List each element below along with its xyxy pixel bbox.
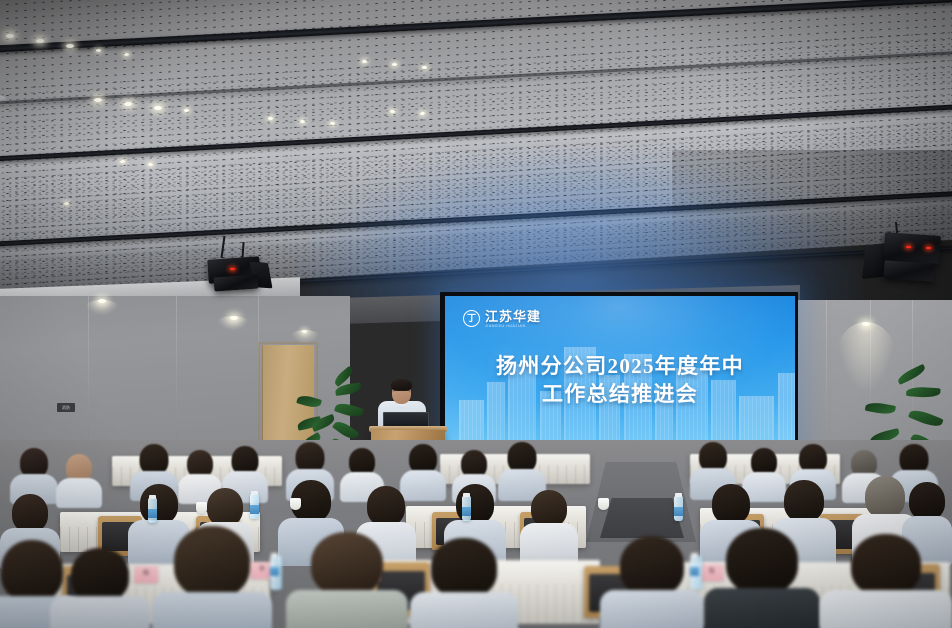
ceiling-downlight bbox=[392, 63, 397, 66]
audience-member-foreground bbox=[704, 528, 820, 628]
audience-member-foreground bbox=[286, 532, 408, 628]
ceiling-downlight bbox=[184, 109, 189, 112]
ceiling-downlight bbox=[154, 106, 162, 110]
ceiling-downlight bbox=[64, 202, 69, 205]
ceiling-downlight bbox=[124, 102, 132, 106]
wall-sign: 消防 bbox=[57, 403, 75, 412]
audience-member-foreground bbox=[152, 526, 272, 628]
audience-member-foreground bbox=[50, 548, 150, 628]
ceiling-downlight bbox=[94, 98, 102, 102]
speaker-power-led bbox=[230, 268, 235, 270]
audience-member-foreground bbox=[820, 534, 952, 628]
paper-cup bbox=[196, 502, 207, 514]
ceiling-downlight bbox=[862, 322, 870, 326]
glasses-icon bbox=[393, 390, 410, 394]
ceiling-downlight bbox=[124, 53, 129, 56]
slide-title-line1: 扬州分公司2025年度年中 bbox=[445, 352, 795, 380]
speaker-power-led bbox=[926, 247, 931, 249]
audience-member bbox=[56, 454, 102, 504]
logo-emblem-icon: 丁 bbox=[463, 310, 480, 327]
wall-sign-label: 消防 bbox=[57, 403, 75, 412]
audience-member-foreground bbox=[410, 538, 518, 628]
ceiling-downlight bbox=[96, 49, 101, 52]
logo-chinese-name: 江苏华建 bbox=[485, 310, 541, 323]
audience-member bbox=[520, 490, 578, 566]
conference-room-photo: 消防 bbox=[0, 0, 952, 628]
water-bottle bbox=[674, 496, 683, 521]
ceiling-downlight bbox=[268, 117, 273, 120]
ceiling-downlight bbox=[390, 110, 395, 113]
aisle-carpet-runner bbox=[600, 498, 684, 538]
audience-member bbox=[10, 448, 58, 500]
ceiling-downlight bbox=[98, 299, 106, 303]
paper-cup bbox=[290, 498, 301, 510]
ceiling-downlight bbox=[230, 316, 238, 320]
ceiling-downlight bbox=[148, 163, 153, 166]
ceiling-downlight bbox=[422, 66, 427, 69]
audience-member-foreground bbox=[600, 536, 704, 628]
paper-cup bbox=[598, 498, 609, 510]
audience-area: 杨 李 王 陈 张 bbox=[0, 440, 952, 628]
water-bottle bbox=[250, 494, 259, 519]
slide-title-line2: 工作总结推进会 bbox=[445, 380, 795, 408]
logo-english-name: JIANGSU HUAJIAN bbox=[485, 325, 541, 328]
water-bottle bbox=[462, 496, 471, 521]
ceiling-speaker-right bbox=[883, 232, 941, 264]
slide-title: 扬州分公司2025年度年中 工作总结推进会 bbox=[445, 352, 795, 408]
speaker-power-led bbox=[906, 246, 911, 248]
ceiling-downlight bbox=[120, 160, 125, 163]
ceiling-speaker-right-lower bbox=[883, 260, 934, 281]
ceiling-downlight bbox=[6, 34, 14, 38]
ceiling-downlight bbox=[362, 60, 367, 63]
ceiling-downlight bbox=[302, 330, 307, 333]
water-bottle bbox=[148, 498, 157, 523]
company-logo: 丁 江苏华建 JIANGSU HUAJIAN bbox=[463, 310, 541, 328]
ceiling-downlight bbox=[420, 112, 425, 115]
ceiling-downlight bbox=[66, 44, 74, 48]
ceiling-downlight bbox=[300, 120, 305, 123]
ceiling-downlight bbox=[36, 39, 44, 43]
ceiling-downlight bbox=[330, 122, 335, 125]
